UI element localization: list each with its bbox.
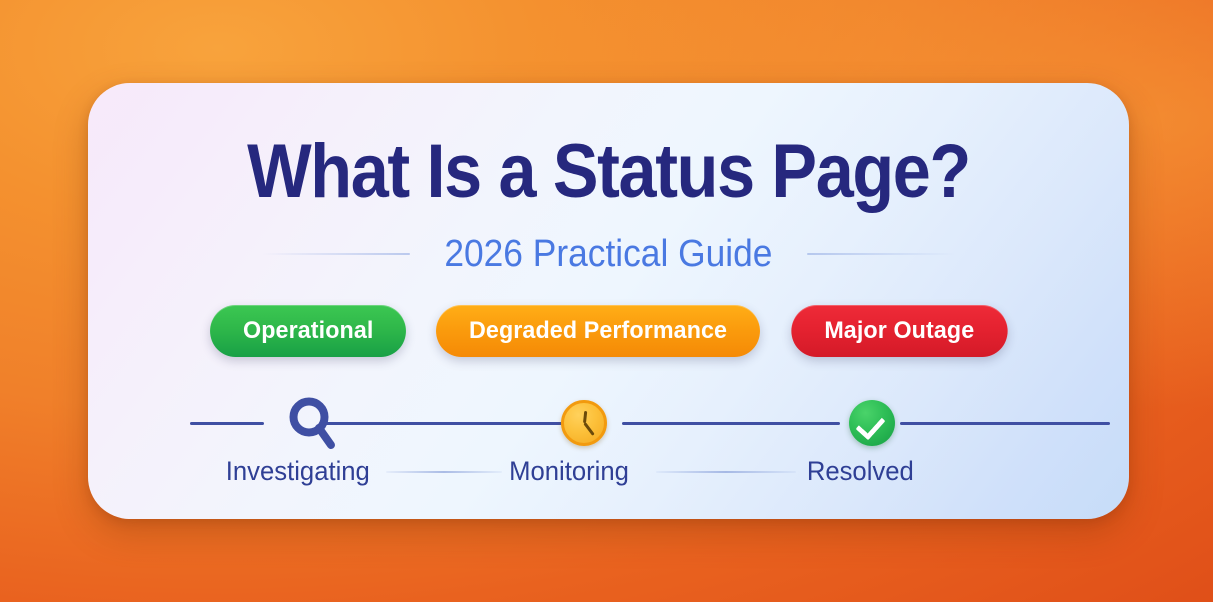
incident-timeline: Investigating Monitoring Resolved <box>188 393 1029 493</box>
check-circle-icon <box>849 400 895 446</box>
page-title: What Is a Status Page? <box>140 130 1077 214</box>
subtitle-rule-right <box>807 253 955 255</box>
status-badge-operational[interactable]: Operational <box>210 305 406 357</box>
timeline-label-rule-1 <box>386 471 502 473</box>
subtitle-rule-left <box>262 253 410 255</box>
timeline-node-investigating[interactable] <box>282 393 342 453</box>
poster-canvas: What Is a Status Page? 2026 Practical Gu… <box>0 0 1213 602</box>
timeline-label-monitoring: Monitoring <box>509 455 629 487</box>
status-badge-degraded-performance[interactable]: Degraded Performance <box>436 305 760 357</box>
magnifying-glass-icon <box>286 395 338 451</box>
timeline-node-monitoring[interactable] <box>554 393 614 453</box>
timeline-nodes <box>188 393 1029 453</box>
status-badge-major-outage[interactable]: Major Outage <box>791 305 1007 357</box>
timeline-node-resolved[interactable] <box>842 393 902 453</box>
clock-minute-hand <box>583 422 594 436</box>
page-subtitle: 2026 Practical Guide <box>444 233 772 275</box>
timeline-label-investigating: Investigating <box>226 455 370 487</box>
timeline-labels: Investigating Monitoring Resolved <box>188 455 1029 491</box>
status-pill-row: Operational Degraded Performance Major O… <box>88 305 1129 357</box>
timeline-label-resolved: Resolved <box>807 455 914 487</box>
status-page-card: What Is a Status Page? 2026 Practical Gu… <box>88 83 1129 519</box>
clock-icon <box>561 400 607 446</box>
subtitle-row: 2026 Practical Guide <box>88 233 1129 275</box>
timeline-label-rule-2 <box>656 471 796 473</box>
